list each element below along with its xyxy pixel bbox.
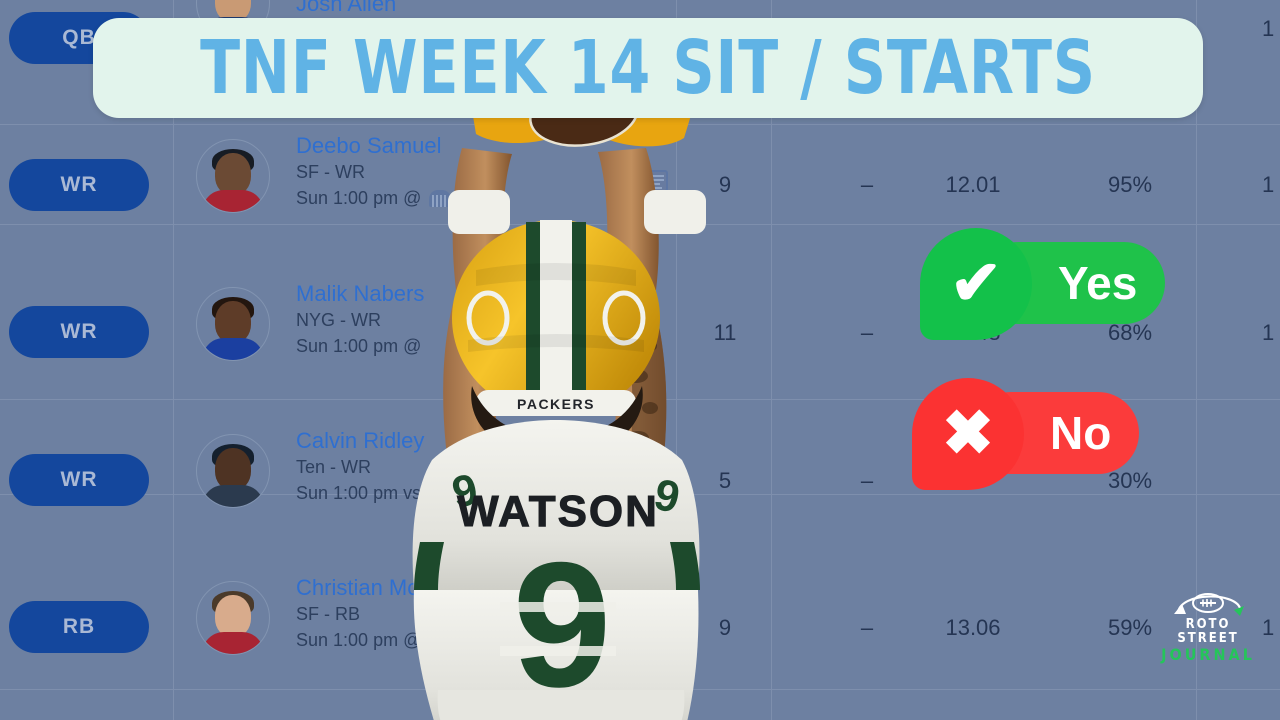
cross-icon: ✖	[912, 378, 1024, 490]
no-label: No	[1050, 406, 1111, 460]
projection-cell: 12.01	[915, 172, 1031, 198]
position-badge-wr[interactable]: WR	[9, 306, 149, 358]
avatar	[196, 287, 270, 361]
page-title: TNF WEEK 14 SIT / STARTS	[200, 25, 1096, 111]
player-photo-cutout: PACKERS 9 9 WATSON 9	[380, 90, 800, 720]
roster-pct-cell: 1	[1262, 16, 1280, 42]
player-info: Josh Allen	[296, 0, 396, 16]
trend-cell: –	[842, 468, 892, 494]
trend-cell: –	[842, 615, 892, 641]
yes-label: Yes	[1058, 256, 1137, 310]
watermark-line2: JOURNAL	[1152, 646, 1264, 664]
trend-cell: –	[842, 172, 892, 198]
position-badge-rb[interactable]: RB	[9, 601, 149, 653]
title-banner: TNF WEEK 14 SIT / STARTS	[93, 18, 1203, 118]
roster-pct-cell: 1	[1262, 172, 1280, 198]
player-name-link[interactable]: Josh Allen	[296, 0, 396, 16]
start-pct-cell: 95%	[1080, 172, 1180, 198]
avatar	[196, 434, 270, 508]
roster-pct-cell: 1	[1262, 320, 1280, 346]
football-arrow-icon	[1152, 586, 1264, 618]
cross-glyph: ✖	[942, 403, 994, 465]
avatar	[196, 139, 270, 213]
position-label: WR	[61, 173, 98, 197]
trend-cell: –	[842, 320, 892, 346]
position-badge-wr[interactable]: WR	[9, 159, 149, 211]
roster-pct-cell: 1	[1262, 615, 1280, 641]
check-icon: ✔	[920, 228, 1032, 340]
svg-text:PACKERS: PACKERS	[517, 396, 595, 412]
packers-player-illustration: PACKERS 9 9 WATSON 9	[380, 90, 800, 720]
projection-cell: 13.06	[915, 615, 1031, 641]
watermark-line1: ROTO STREET	[1152, 618, 1264, 647]
avatar	[196, 581, 270, 655]
position-label: WR	[61, 468, 98, 492]
position-badge-wr[interactable]: WR	[9, 454, 149, 506]
position-label: RB	[63, 615, 95, 639]
watermark-logo: ROTO STREET JOURNAL	[1152, 586, 1264, 664]
position-label: QB	[62, 26, 96, 50]
check-glyph: ✔	[950, 253, 1002, 315]
position-label: WR	[61, 320, 98, 344]
